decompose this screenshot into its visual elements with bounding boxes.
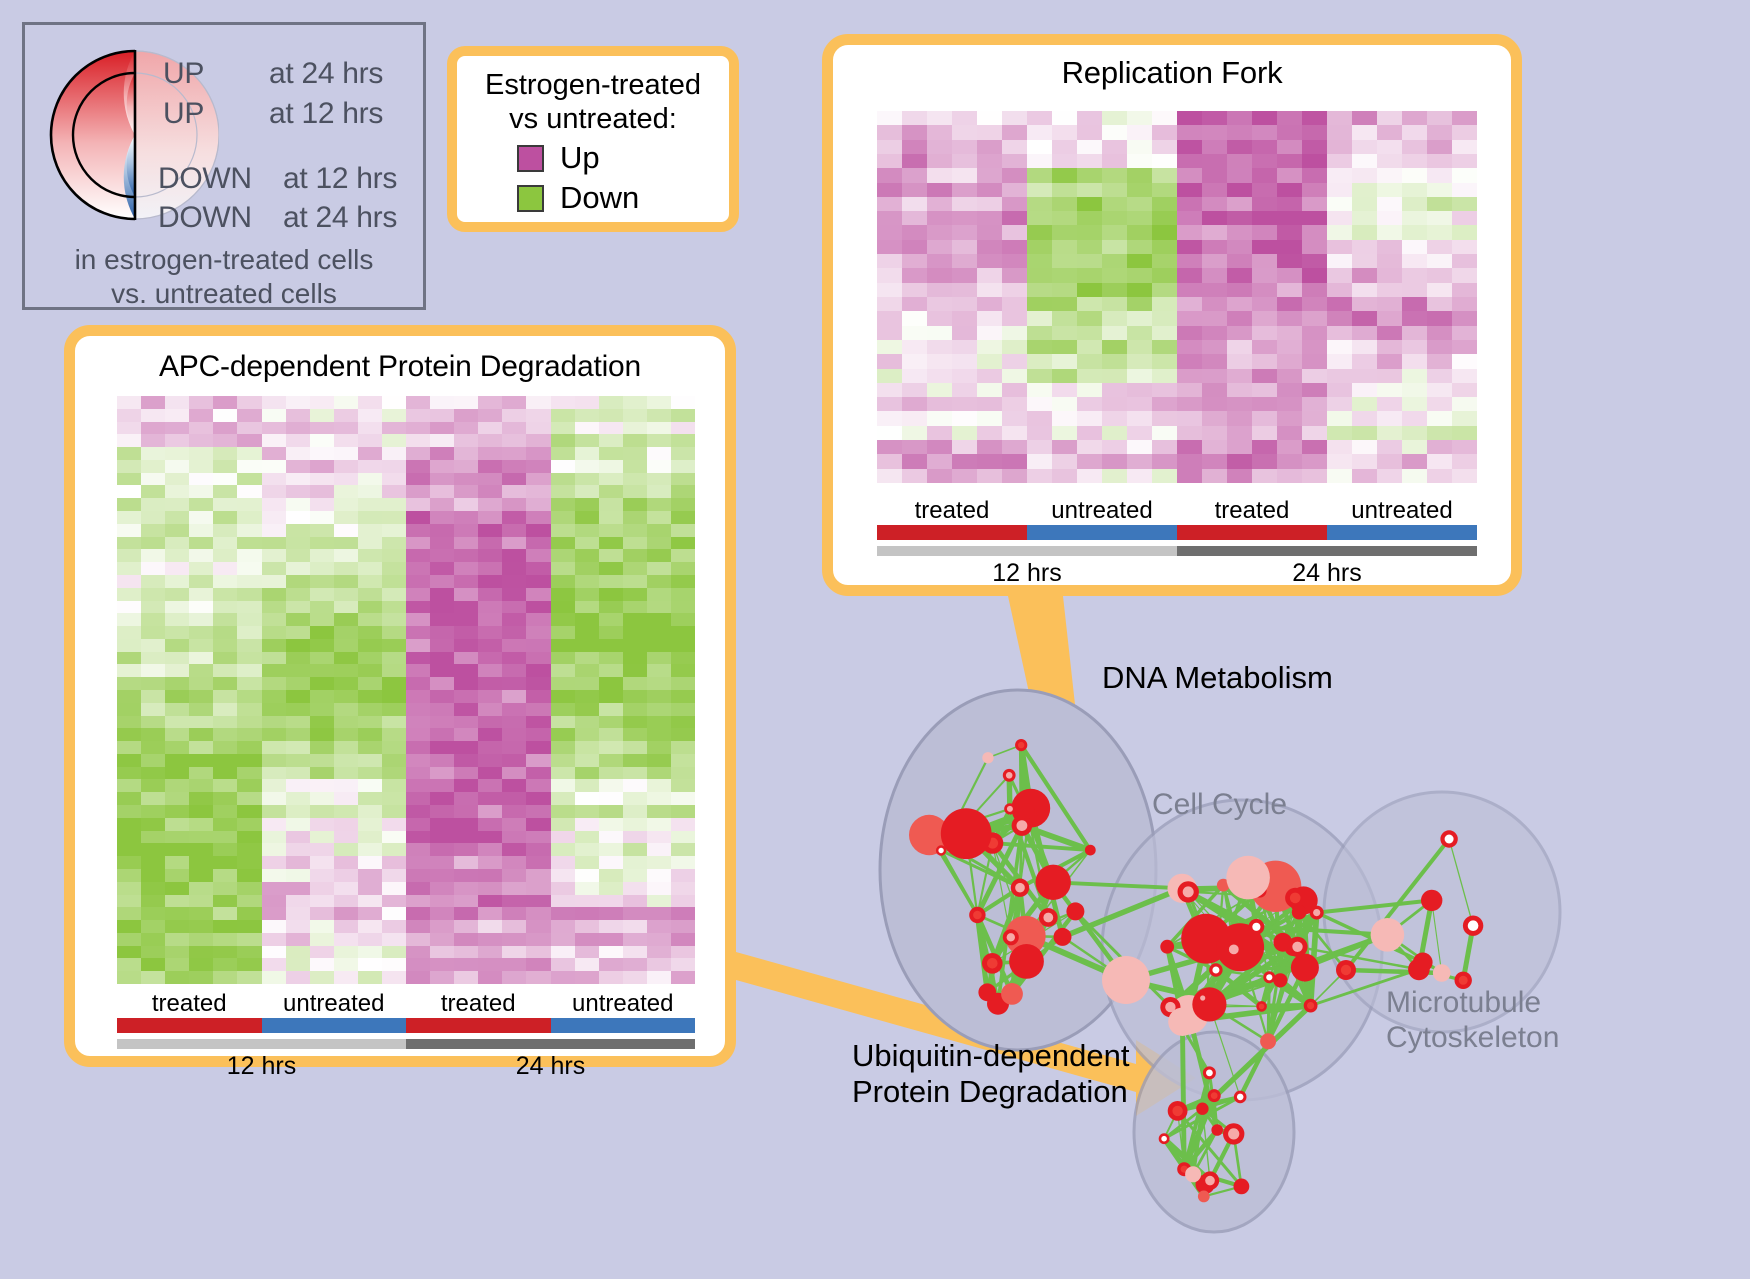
updown-title-line2: vs untreated: bbox=[457, 102, 729, 136]
panel-apc-degradation: APC-dependent Protein Degradation treate… bbox=[64, 325, 736, 1067]
up-swatch-icon bbox=[517, 145, 544, 172]
time-label-24hrs: 24 hrs bbox=[1177, 559, 1477, 588]
legend-item-up: Up bbox=[517, 140, 729, 176]
panel-title-apc: APC-dependent Protein Degradation bbox=[75, 336, 725, 384]
time-bar-24hrs bbox=[406, 1039, 695, 1049]
network-graph bbox=[790, 620, 1750, 1279]
condition-bar-treated-24 bbox=[1177, 525, 1327, 540]
cluster-label-ubiquitin-protein-degradation: Ubiquitin-dependent Protein Degradation bbox=[852, 1038, 1130, 1109]
condition-labels: treated untreated treated untreated bbox=[117, 990, 695, 1018]
cluster-label-microtubule-cytoskeleton: Microtubule Cytoskeleton bbox=[1386, 986, 1559, 1055]
panel-title-replication-fork: Replication Fork bbox=[833, 45, 1511, 91]
condition-label-3: untreated bbox=[551, 990, 696, 1018]
updown-title-line1: Estrogen-treated bbox=[457, 68, 729, 102]
condition-labels: treated untreated treated untreated bbox=[877, 497, 1477, 525]
condition-color-bar bbox=[117, 1018, 695, 1033]
time-bar-24hrs bbox=[1177, 546, 1477, 556]
updown-legend-card: Estrogen-treated vs untreated: Up Down bbox=[447, 46, 739, 232]
timepoint-labels: 12 hrs 24 hrs bbox=[117, 1052, 695, 1081]
condition-bar-untreated-24 bbox=[551, 1018, 696, 1033]
figure-canvas: UP at 24 hrs UP at 12 hrs DOWN at 12 hrs… bbox=[0, 0, 1750, 1279]
heatmap-apc-degradation bbox=[117, 396, 695, 984]
time-label-12hrs: 12 hrs bbox=[877, 559, 1177, 588]
cluster-label-cell-cycle: Cell Cycle bbox=[1152, 788, 1287, 823]
condition-label-1: untreated bbox=[262, 990, 407, 1018]
condition-bar-treated-24 bbox=[406, 1018, 551, 1033]
legend-item-down: Down bbox=[517, 180, 729, 216]
updown-legend-title: Estrogen-treated vs untreated: bbox=[457, 56, 729, 136]
condition-bar-untreated-12 bbox=[262, 1018, 407, 1033]
condition-color-bar bbox=[877, 525, 1477, 540]
time-bar-12hrs bbox=[117, 1039, 406, 1049]
legend-time-2: at 12 hrs bbox=[283, 162, 397, 196]
time-label-24hrs: 24 hrs bbox=[406, 1052, 695, 1081]
legend-time-3: at 24 hrs bbox=[283, 201, 397, 235]
legend-caption-line1: in estrogen-treated cells bbox=[25, 244, 423, 276]
condition-label-3: untreated bbox=[1327, 497, 1477, 525]
legend-time-0: at 24 hrs bbox=[269, 57, 383, 91]
time-label-12hrs: 12 hrs bbox=[117, 1052, 406, 1081]
legend-time-1: at 12 hrs bbox=[269, 97, 383, 131]
condition-label-2: treated bbox=[406, 990, 551, 1018]
down-swatch-icon bbox=[517, 185, 544, 212]
heatmap-replication-fork bbox=[877, 111, 1477, 483]
cluster-label-dna-metabolism: DNA Metabolism bbox=[1102, 660, 1333, 696]
legend-caption-line2: vs. untreated cells bbox=[25, 278, 423, 310]
timepoint-color-bar bbox=[117, 1039, 695, 1049]
condition-label-1: untreated bbox=[1027, 497, 1177, 525]
annotation-replication-fork: treated untreated treated untreated 12 h… bbox=[877, 497, 1477, 588]
legend-direction-0: UP bbox=[163, 57, 204, 91]
annotation-apc: treated untreated treated untreated 12 h… bbox=[117, 990, 695, 1081]
legend-direction-2: DOWN bbox=[158, 162, 252, 196]
legend-direction-3: DOWN bbox=[158, 201, 252, 235]
time-bar-12hrs bbox=[877, 546, 1177, 556]
condition-bar-treated-12 bbox=[117, 1018, 262, 1033]
condition-bar-treated-12 bbox=[877, 525, 1027, 540]
legend-direction-1: UP bbox=[163, 97, 204, 131]
condition-label-0: treated bbox=[117, 990, 262, 1018]
pathway-network: DNA Metabolism Cell Cycle Microtubule Cy… bbox=[790, 620, 1750, 1279]
colorbar-legend: UP at 24 hrs UP at 12 hrs DOWN at 12 hrs… bbox=[22, 22, 426, 310]
timepoint-labels: 12 hrs 24 hrs bbox=[877, 559, 1477, 588]
legend-down-label: Down bbox=[560, 180, 639, 216]
condition-bar-untreated-24 bbox=[1327, 525, 1477, 540]
condition-label-0: treated bbox=[877, 497, 1027, 525]
condition-bar-untreated-12 bbox=[1027, 525, 1177, 540]
legend-up-label: Up bbox=[560, 140, 600, 176]
condition-label-2: treated bbox=[1177, 497, 1327, 525]
panel-replication-fork: Replication Fork treated untreated treat… bbox=[822, 34, 1522, 596]
timepoint-color-bar bbox=[877, 546, 1477, 556]
